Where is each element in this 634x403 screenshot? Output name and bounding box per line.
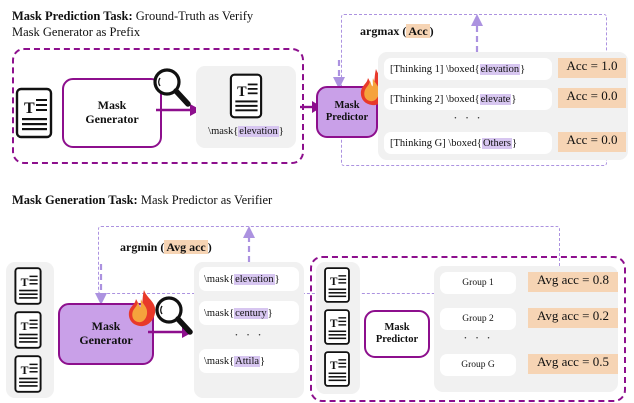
group-row-1[interactable]: Group 1 bbox=[440, 272, 516, 294]
mask-candidate-row-1[interactable]: \mask{elevation} bbox=[199, 267, 299, 291]
thinking-row-3[interactable]: [Thinking G] \boxed{Others} bbox=[384, 132, 552, 154]
magnifier-icon-bottom bbox=[152, 294, 196, 338]
group-label: Group 1 bbox=[462, 278, 493, 288]
thinking-prefix: [Thinking 1] \boxed{ bbox=[390, 64, 480, 75]
thinking-word: Others bbox=[482, 138, 512, 149]
predictor-input-document-icon-2: T bbox=[320, 308, 354, 346]
input-document-icon-2: T bbox=[10, 310, 46, 350]
avg-acc-badge-2: Avg acc = 0.2 bbox=[528, 308, 618, 328]
objective-metric: Avg acc bbox=[164, 240, 207, 254]
avg-acc-badge-3: Avg acc = 0.5 bbox=[528, 354, 618, 374]
group-label: Group G bbox=[461, 360, 495, 370]
mask-predictor-box-bottom[interactable]: Mask Predictor bbox=[364, 310, 430, 358]
group-label: Group 2 bbox=[462, 314, 493, 324]
document-icon: T bbox=[10, 266, 46, 306]
document-icon: T bbox=[320, 308, 354, 346]
group-row-3[interactable]: Group G bbox=[440, 354, 516, 376]
svg-text:T: T bbox=[21, 319, 29, 333]
mask-suffix: } bbox=[260, 356, 265, 367]
score-badge-3: Acc = 0.0 bbox=[558, 132, 626, 152]
objective-metric: Acc bbox=[406, 24, 429, 38]
mask-word: Attila bbox=[234, 356, 260, 367]
group-row-2[interactable]: Group 2 bbox=[440, 308, 516, 330]
document-icon: T bbox=[227, 72, 265, 120]
mask-prefix: \mask{ bbox=[208, 126, 238, 137]
thinking-prefix: [Thinking G] \boxed{ bbox=[390, 138, 482, 149]
score-badge-2: Acc = 0.0 bbox=[558, 88, 626, 108]
bottom-title-bold: Mask Generation Task: bbox=[12, 193, 138, 207]
thinking-suffix: } bbox=[511, 94, 516, 105]
mask-suffix: } bbox=[268, 308, 273, 319]
svg-text:T: T bbox=[330, 318, 338, 330]
objective-suffix: ) bbox=[430, 24, 434, 38]
thinking-row-1[interactable]: [Thinking 1] \boxed{elevation} bbox=[384, 58, 552, 80]
document-icon: T bbox=[10, 354, 46, 394]
thinking-row-2[interactable]: [Thinking 2] \boxed{elevate} bbox=[384, 88, 552, 110]
mask-word: elevation bbox=[238, 126, 278, 137]
top-title-line2: Mask Generator as Prefix bbox=[12, 25, 140, 39]
mask-predictor-label-line2: Predictor bbox=[326, 112, 368, 124]
mask-generator-label-line1: Mask bbox=[92, 320, 121, 334]
thinking-ellipsis: · · · bbox=[384, 110, 552, 126]
svg-text:T: T bbox=[21, 275, 29, 289]
svg-text:T: T bbox=[330, 360, 338, 372]
mask-predictor-label-line1: Mask bbox=[334, 100, 359, 112]
objective-prefix: argmax ( bbox=[360, 24, 406, 38]
bottom-section-title: Mask Generation Task: Mask Predictor as … bbox=[12, 192, 432, 208]
svg-text:T: T bbox=[21, 363, 29, 377]
document-icon: T bbox=[320, 266, 354, 304]
masked-output-text: \mask{elevation} bbox=[200, 126, 292, 137]
mask-prefix: \mask{ bbox=[204, 274, 234, 285]
input-document-icon-3: T bbox=[10, 354, 46, 394]
objective-prefix: argmin ( bbox=[120, 240, 164, 254]
predictor-input-document-icon-1: T bbox=[320, 266, 354, 304]
thinking-word: elevation bbox=[480, 64, 520, 75]
svg-text:T: T bbox=[237, 84, 247, 100]
mask-generator-label-line1: Mask bbox=[98, 99, 127, 113]
bottom-title-rest: Mask Predictor as Verifier bbox=[138, 193, 272, 207]
input-document-icon-1: T bbox=[10, 266, 46, 306]
mask-prefix: \mask{ bbox=[204, 356, 234, 367]
mask-candidate-row-2[interactable]: \mask{century} bbox=[199, 301, 299, 325]
feedback-arrow-to-generator-bottom bbox=[94, 264, 108, 306]
mask-generator-box-top[interactable]: Mask Generator bbox=[62, 78, 162, 148]
thinking-suffix: } bbox=[512, 138, 517, 149]
mask-candidate-row-3[interactable]: \mask{Attila} bbox=[199, 349, 299, 373]
mask-word: century bbox=[234, 308, 268, 319]
document-icon: T bbox=[14, 86, 54, 140]
groups-ellipsis: · · · bbox=[440, 330, 516, 346]
document-icon: T bbox=[320, 350, 354, 388]
mask-suffix: } bbox=[275, 274, 280, 285]
mask-word: elevation bbox=[234, 274, 274, 285]
svg-text:T: T bbox=[330, 276, 338, 288]
objective-suffix: ) bbox=[208, 240, 212, 254]
thinking-prefix: [Thinking 2] \boxed{ bbox=[390, 94, 480, 105]
avg-acc-badge-1: Avg acc = 0.8 bbox=[528, 272, 618, 292]
mask-generator-label-line2: Generator bbox=[79, 334, 132, 348]
magnifier-icon-top bbox=[150, 66, 194, 110]
top-title-rest: Ground-Truth as Verify bbox=[133, 9, 253, 23]
mask-prefix: \mask{ bbox=[204, 308, 234, 319]
top-title-bold: Mask Prediction Task: bbox=[12, 9, 133, 23]
mask-generator-label-line2: Generator bbox=[85, 113, 138, 127]
document-icon: T bbox=[10, 310, 46, 350]
thinking-suffix: } bbox=[520, 64, 525, 75]
svg-text:T: T bbox=[24, 100, 35, 117]
objective-label-bottom: argmin (Avg acc) bbox=[120, 240, 212, 255]
predictor-input-document-icon-3: T bbox=[320, 350, 354, 388]
mask-predictor-label-line1: Mask bbox=[384, 322, 409, 334]
input-document-icon: T bbox=[14, 86, 54, 140]
top-section-title: Mask Prediction Task: Ground-Truth as Ve… bbox=[12, 8, 342, 40]
score-badge-1: Acc = 1.0 bbox=[558, 58, 626, 78]
mask-suffix: } bbox=[279, 126, 284, 137]
mask-candidates-ellipsis: · · · bbox=[199, 327, 299, 343]
mask-predictor-label-line2: Predictor bbox=[376, 334, 418, 346]
thinking-word: elevate bbox=[480, 94, 512, 105]
masked-output-icon: T bbox=[227, 72, 265, 120]
objective-label-top: argmax (Acc) bbox=[360, 24, 434, 39]
